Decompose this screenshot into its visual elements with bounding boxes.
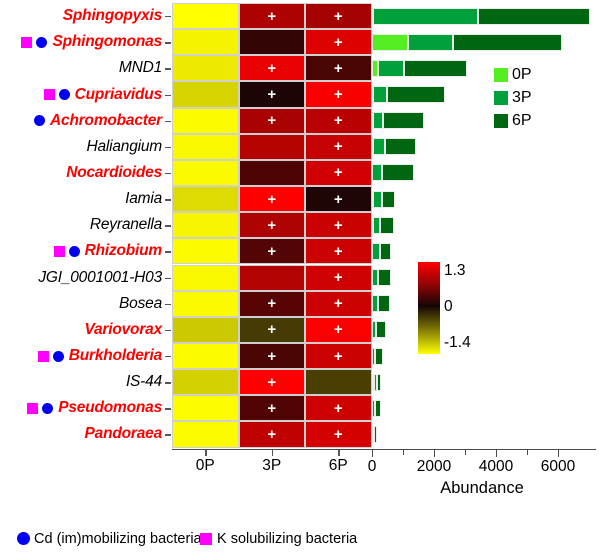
k-solubilizing-legend-label: K solubilizing bacteria [217,531,357,547]
significance-marker: + [267,427,276,442]
heatmap-cell-r0-c0 [172,3,239,29]
colorbar-label-min: -1.4 [444,334,471,352]
row-label-is-44: IS-44 [126,369,164,395]
row-tick [165,356,171,357]
heatmap-cell-r14-c1: + [239,369,306,395]
heatmap-cell-r14-c2 [305,369,372,395]
bar-segment-6P-row14 [377,374,382,391]
row-tick [165,278,171,279]
colorbar-label-max: 1.3 [444,262,466,280]
bar-segment-6P-row12 [376,321,386,338]
row-label-achromobacter: Achromobacter [34,108,164,134]
bar-x-tick-6000 [558,450,559,457]
heatmap-cell-r5-c0 [172,134,239,160]
cd-mobilizing-marker-icon [34,115,45,126]
row-label-iamia: Iamia [125,186,164,212]
bar-segment-3P-row7 [373,191,382,208]
heatmap-cell-r12-c0 [172,317,239,343]
row-tick [165,382,171,383]
cd-mobilizing-legend-label: Cd (im)mobilizing bacteria [34,531,202,547]
heatmap-cell-r8-c1: + [239,212,306,238]
heatmap-cell-r10-c0 [172,265,239,291]
heatmap-cell-r5-c1 [239,134,306,160]
bar-segment-6P-row13 [375,348,383,365]
heatmap-x-label-0P: 0P [180,457,230,475]
heatmap-cell-r4-c1: + [239,108,306,134]
taxon-name: Rhizobium [85,242,164,260]
bar-x-label-0: 0 [342,458,402,476]
bar-segment-6P-row9 [380,243,392,260]
heatmap-cell-r7-c1: + [239,186,306,212]
cd-mobilizing-marker-icon [36,37,47,48]
heatmap-cell-r1-c2: + [305,29,372,55]
taxon-name: MND1 [119,59,164,77]
heatmap-cell-r13-c1: + [239,343,306,369]
taxon-name: JGI_0001001-H03 [38,269,164,287]
significance-marker: + [334,9,343,24]
row-label-variovorax: Variovorax [84,317,164,343]
taxon-name: Burkholderia [69,347,164,365]
legend-swatch-0P [494,68,508,82]
heatmap-cell-r9-c2: + [305,238,372,264]
bar-x-tick-1000 [403,450,404,455]
heatmap-cell-r16-c0 [172,421,239,447]
k-solubilizing-legend-icon [200,533,212,545]
heatmap-cell-r3-c1: + [239,81,306,107]
bar-segment-6P-row4 [383,112,424,129]
k-solubilizing-marker-icon [54,246,65,257]
row-tick [165,408,171,409]
colorbar [418,262,440,354]
k-solubilizing-marker-icon [21,37,32,48]
heatmap-cell-r9-c1: + [239,238,306,264]
row-label-bosea: Bosea [119,291,164,317]
row-label-haliangium: Haliangium [86,134,164,160]
heatmap-cell-r16-c1: + [239,421,306,447]
k-solubilizing-marker-icon [44,89,55,100]
row-tick [165,330,171,331]
row-label-rhizobium: Rhizobium [54,238,164,264]
cd-mobilizing-marker-icon [42,403,53,414]
bar-x-tick-0 [372,450,373,457]
taxon-name: Achromobacter [50,112,164,130]
row-label-jgi-0001001-h03: JGI_0001001-H03 [38,265,164,291]
row-tick [165,251,171,252]
taxon-name: Cupriavidus [75,86,164,104]
row-label-mnd1: MND1 [119,55,164,81]
bar-segment-6P-row8 [380,217,394,234]
heatmap-x-tick-6P [338,450,339,456]
bar-segment-6P-row5 [385,138,416,155]
bar-segment-3P-row1 [408,34,454,51]
bar-x-label-2000: 2000 [404,458,464,476]
bar-segment-6P-row10 [378,269,391,286]
bar-x-tick-3000 [465,450,466,455]
significance-marker: + [267,296,276,311]
row-label-cupriavidus: Cupriavidus [44,81,164,107]
heatmap-cell-r8-c0 [172,212,239,238]
bar-x-label-6000: 6000 [528,458,588,476]
heatmap-cell-r4-c0 [172,108,239,134]
heatmap-cell-r10-c1 [239,265,306,291]
heatmap-cell-r13-c0 [172,343,239,369]
row-tick [165,225,171,226]
taxon-name: Bosea [119,295,164,313]
heatmap-cell-r6-c0 [172,160,239,186]
cd-mobilizing-marker-icon [59,89,70,100]
legend-label-3P: 3P [512,89,532,107]
row-tick [165,304,171,305]
cd-mobilizing-legend-icon [17,532,30,545]
heatmap-cell-r2-c2: + [305,55,372,81]
taxon-name: Sphingopyxis [63,7,164,25]
bar-segment-6P-row6 [382,164,414,181]
row-label-nocardioides: Nocardioides [66,160,164,186]
significance-marker: + [334,192,343,207]
heatmap-x-tick-3P [272,450,273,456]
heatmap-x-label-3P: 3P [247,457,297,475]
bar-segment-3P-row9 [372,243,379,260]
legend-swatch-3P [494,91,508,105]
significance-marker: + [267,192,276,207]
bar-x-tick-5000 [527,450,528,455]
heatmap-cell-r3-c2: + [305,81,372,107]
significance-marker: + [334,113,343,128]
taxon-name: IS-44 [126,373,164,391]
significance-marker: + [267,322,276,337]
taxon-name: Sphingomonas [52,33,164,51]
bar-segment-6P-row16 [374,426,377,443]
bar-segment-3P-row3 [373,86,387,103]
bar-segment-6P-row2 [404,60,467,77]
cd-mobilizing-marker-icon [69,246,80,257]
significance-marker: + [267,375,276,390]
significance-marker: + [267,9,276,24]
row-label-sphingomonas: Sphingomonas [21,29,164,55]
significance-marker: + [267,61,276,76]
bar-segment-6P-row7 [382,191,395,208]
row-tick [165,147,171,148]
bar-axis-title: Abundance [382,479,582,498]
significance-marker: + [334,427,343,442]
heatmap-cell-r12-c2: + [305,317,372,343]
bar-segment-3P-row2 [378,60,404,77]
heatmap-cell-r7-c2: + [305,186,372,212]
bar-segment-3P-row6 [372,164,381,181]
heatmap-cell-r15-c2: + [305,395,372,421]
heatmap-cell-r13-c2: + [305,343,372,369]
bar-x-tick-4000 [496,450,497,457]
colorbar-label-mid: 0 [444,298,453,316]
cd-mobilizing-marker-icon [53,351,64,362]
bar-x-tick-2000 [434,450,435,457]
k-solubilizing-marker-icon [27,403,38,414]
heatmap-cell-r11-c0 [172,291,239,317]
row-label-burkholderia: Burkholderia [38,343,164,369]
heatmap-cell-r0-c1: + [239,3,306,29]
row-tick [165,42,171,43]
significance-marker: + [334,296,343,311]
significance-marker: + [334,349,343,364]
row-label-sphingopyxis: Sphingopyxis [63,3,164,29]
row-label-reyranella: Reyranella [90,212,164,238]
heatmap-cell-r2-c1: + [239,55,306,81]
bar-segment-3P-row5 [373,138,385,155]
heatmap-cell-r7-c0 [172,186,239,212]
bar-segment-6P-row1 [453,34,562,51]
taxon-name: Nocardioides [66,164,164,182]
taxon-name: Haliangium [86,138,164,156]
taxon-name: Pseudomonas [58,399,164,417]
significance-marker: + [334,139,343,154]
taxon-name: Iamia [125,190,164,208]
bar-segment-6P-row11 [378,295,390,312]
legend-swatch-6P [494,114,508,128]
row-tick [165,173,171,174]
legend-label-6P: 6P [512,112,532,130]
bar-segment-3P-row4 [373,112,384,129]
row-tick [165,121,171,122]
bar-segment-0P-row1 [372,34,408,51]
heatmap-cell-r0-c2: + [305,3,372,29]
row-label-pandoraea: Pandoraea [85,421,164,447]
heatmap-cell-r4-c2: + [305,108,372,134]
bar-segment-6P-row0 [478,8,590,25]
row-tick [165,199,171,200]
significance-marker: + [267,349,276,364]
heatmap-cell-r11-c1: + [239,291,306,317]
significance-marker: + [334,270,343,285]
heatmap-cell-r14-c0 [172,369,239,395]
heatmap-cell-r11-c2: + [305,291,372,317]
heatmap-cell-r8-c2: + [305,212,372,238]
row-tick [165,434,171,435]
significance-marker: + [267,87,276,102]
bar-segment-6P-row15 [375,400,381,417]
k-solubilizing-marker-icon [38,351,49,362]
significance-marker: + [334,401,343,416]
bar-segment-6P-row3 [387,86,445,103]
significance-marker: + [267,218,276,233]
significance-marker: + [334,61,343,76]
heatmap-cell-r6-c1 [239,160,306,186]
taxon-name: Reyranella [90,216,164,234]
significance-marker: + [334,218,343,233]
row-tick [165,95,171,96]
heatmap-cell-r2-c0 [172,55,239,81]
bar-segment-3P-row0 [373,8,478,25]
heatmap-cell-r16-c2: + [305,421,372,447]
row-tick [165,68,171,69]
taxon-name: Pandoraea [85,425,164,443]
heatmap-cell-r10-c2: + [305,265,372,291]
significance-marker: + [267,401,276,416]
bar-segment-3P-row8 [373,217,381,234]
heatmap-cell-r5-c2: + [305,134,372,160]
figure-canvas: SphingopyxisSphingomonasMND1CupriavidusA… [0,0,600,558]
row-tick [165,16,171,17]
heatmap-cell-r9-c0 [172,238,239,264]
heatmap-x-tick-0P [205,450,206,456]
row-label-pseudomonas: Pseudomonas [27,395,164,421]
significance-marker: + [334,165,343,180]
taxon-name: Variovorax [84,321,164,339]
significance-marker: + [267,244,276,259]
significance-marker: + [334,87,343,102]
heatmap-cell-r15-c1: + [239,395,306,421]
heatmap-cell-r3-c0 [172,81,239,107]
significance-marker: + [334,35,343,50]
heatmap-cell-r1-c1 [239,29,306,55]
legend-label-0P: 0P [512,66,532,84]
heatmap-cell-r15-c0 [172,395,239,421]
significance-marker: + [334,322,343,337]
heatmap-cell-r1-c0 [172,29,239,55]
bar-x-label-4000: 4000 [466,458,526,476]
significance-marker: + [334,244,343,259]
heatmap-cell-r6-c2: + [305,160,372,186]
significance-marker: + [267,113,276,128]
heatmap-cell-r12-c1: + [239,317,306,343]
